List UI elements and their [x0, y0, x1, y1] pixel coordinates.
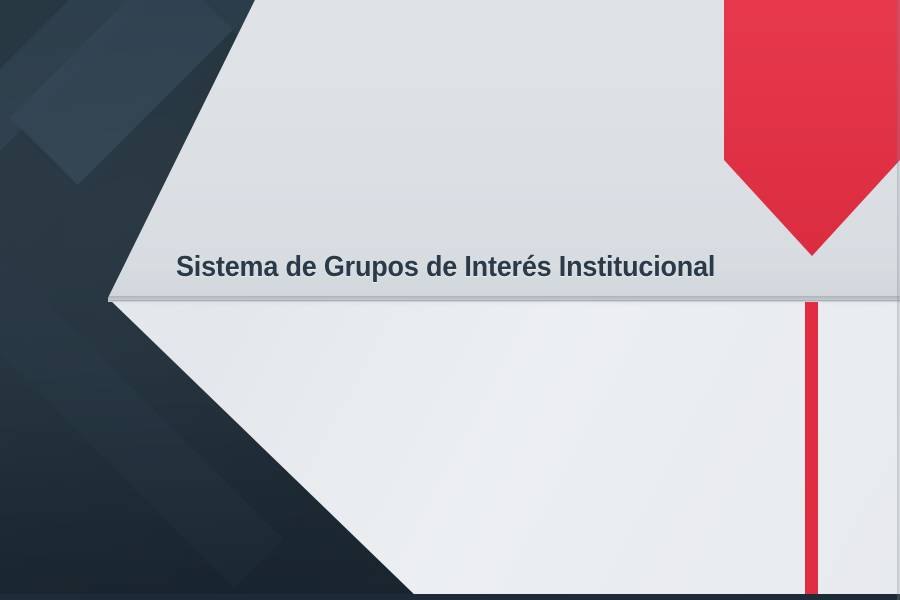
page-root: Sistema de Grupos de Interés Institucion…: [0, 0, 900, 600]
red-vertical-rule: [805, 302, 818, 598]
header-band-divider: [108, 300, 900, 301]
page-title: Sistema de Grupos de Interés Institucion…: [176, 251, 715, 284]
bottom-strip: [0, 594, 900, 600]
